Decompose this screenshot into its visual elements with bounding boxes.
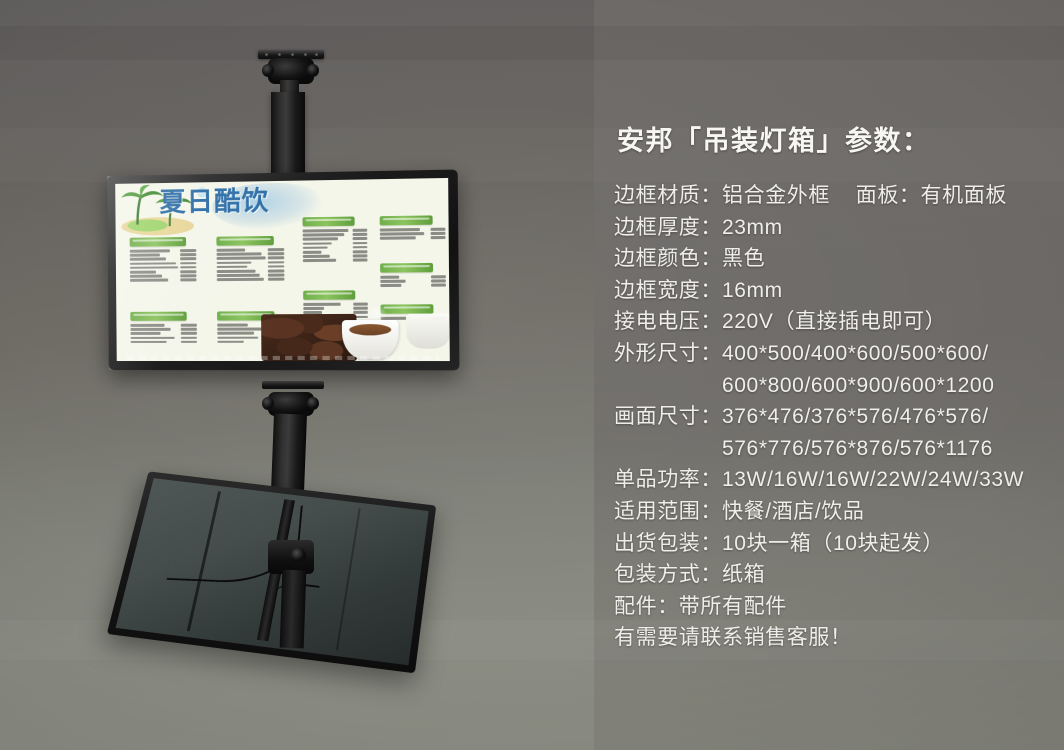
lower-joint-knob-right xyxy=(307,397,319,410)
lightbox-panel: 夏日酷饮 xyxy=(115,178,450,361)
spec-line: 有需要请联系销售客服！ xyxy=(614,622,1052,654)
rear-panel-seam-right xyxy=(336,508,361,650)
category-banner xyxy=(130,237,186,247)
spec-line: 边框颜色：黑色 xyxy=(614,243,1052,275)
spec-list: 边框材质：铝合金外框 面板：有机面板 边框厚度：23mm 边框颜色：黑色 边框宽… xyxy=(614,180,1052,654)
upper-joint-knob-right xyxy=(307,64,319,77)
price-rows xyxy=(130,324,197,345)
lightbox-front: 夏日酷饮 xyxy=(107,170,459,371)
lower-pole-tail xyxy=(280,570,307,649)
category-banner xyxy=(303,290,355,300)
spec-line: 边框宽度：16mm xyxy=(614,275,1052,307)
product-photo-stage: 夏日酷饮 xyxy=(0,0,1064,750)
category-banner xyxy=(130,312,186,321)
spec-line: 单品功率：13W/16W/16W/22W/24W/33W xyxy=(614,464,1052,496)
price-rows xyxy=(380,228,446,242)
spec-line: 边框材质：铝合金外框 面板：有机面板 xyxy=(614,180,1052,212)
spec-line: 配件：带所有配件 xyxy=(614,591,1052,623)
coffee-cup-front xyxy=(342,320,399,359)
poster-headline: 夏日酷饮 xyxy=(159,186,323,237)
spec-panel: 安邦「吊装灯箱」参数： 边框材质：铝合金外框 面板：有机面板 边框厚度：23mm… xyxy=(614,124,1052,654)
spec-line: 576*776/576*876/576*1176 xyxy=(614,433,1052,465)
spec-title: 安邦「吊装灯箱」参数： xyxy=(617,124,1052,158)
category-banner xyxy=(302,217,354,227)
spec-line: 外形尺寸：400*500/400*600/500*600/ xyxy=(614,338,1052,370)
category-banner xyxy=(216,236,273,246)
spec-line: 画面尺寸：376*476/376*576/476*576/ xyxy=(614,401,1052,433)
category-banner xyxy=(380,263,433,273)
price-rows xyxy=(303,229,368,264)
clamp-knob xyxy=(291,548,306,563)
poster-watermark xyxy=(127,356,439,360)
category-banner xyxy=(380,215,433,225)
spec-line: 接电电压：220V（直接插电即可） xyxy=(614,306,1052,338)
coffee-photo xyxy=(261,299,450,361)
menu-poster: 夏日酷饮 xyxy=(115,178,450,361)
lower-joint-knob-left xyxy=(262,397,274,410)
spec-line: 出货包装：10块一箱（10块起发） xyxy=(614,528,1052,560)
coffee-cup-back xyxy=(406,313,450,348)
price-rows xyxy=(217,248,285,283)
spec-line: 包装方式：纸箱 xyxy=(614,559,1052,591)
spec-line: 600*800/600*900/600*1200 xyxy=(614,370,1052,402)
price-rows xyxy=(380,275,446,288)
price-rows xyxy=(130,249,197,283)
spec-line: 适用范围：快餐/酒店/饮品 xyxy=(614,496,1052,528)
spec-line: 边框厚度：23mm xyxy=(614,212,1052,244)
lower-mount-plate xyxy=(262,381,324,389)
upper-joint-knob-left xyxy=(262,64,274,77)
